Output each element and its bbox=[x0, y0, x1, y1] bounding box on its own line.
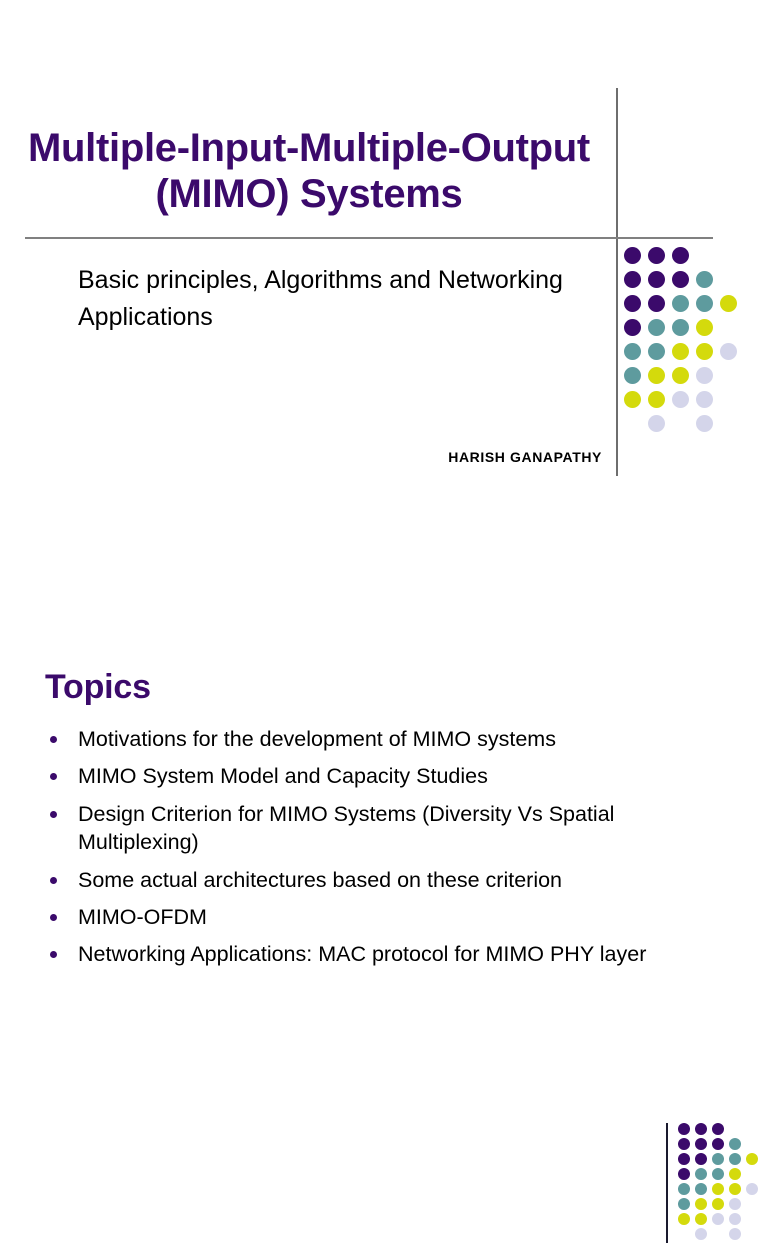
decorative-dot bbox=[672, 319, 689, 336]
decorative-dot bbox=[672, 271, 689, 288]
title-subtitle: Basic principles, Algorithms and Network… bbox=[78, 262, 598, 335]
decorative-dot bbox=[696, 295, 713, 312]
decorative-dot bbox=[624, 391, 641, 408]
decorative-dot bbox=[746, 1153, 758, 1165]
bullet-point-icon bbox=[50, 877, 57, 884]
bullet-point-icon bbox=[50, 811, 57, 818]
decorative-dot bbox=[729, 1138, 741, 1150]
dot-grid-accent-line bbox=[666, 1123, 668, 1243]
decorative-dot bbox=[695, 1168, 707, 1180]
list-item-label: Motivations for the development of MIMO … bbox=[78, 727, 556, 751]
decorative-dot bbox=[624, 247, 641, 264]
decorative-dot bbox=[746, 1183, 758, 1195]
topics-slide: Topics Motivations for the development o… bbox=[0, 540, 768, 1024]
decorative-dot bbox=[678, 1138, 690, 1150]
list-item: MIMO-OFDM bbox=[40, 903, 730, 931]
decorative-dot bbox=[624, 319, 641, 336]
decorative-dot bbox=[729, 1183, 741, 1195]
decorative-dot bbox=[648, 295, 665, 312]
decorative-dot bbox=[712, 1138, 724, 1150]
decorative-dot bbox=[695, 1138, 707, 1150]
list-item-label: MIMO-OFDM bbox=[78, 905, 207, 929]
list-item-label: Design Criterion for MIMO Systems (Diver… bbox=[78, 802, 614, 854]
decorative-dot bbox=[648, 415, 665, 432]
horizontal-divider-rule bbox=[25, 237, 713, 239]
decorative-dot bbox=[648, 271, 665, 288]
decorative-dot bbox=[678, 1168, 690, 1180]
decorative-dot-grid-topics bbox=[666, 1123, 766, 1245]
decorative-dot bbox=[648, 391, 665, 408]
decorative-dot bbox=[695, 1123, 707, 1135]
list-item-label: Networking Applications: MAC protocol fo… bbox=[78, 942, 646, 966]
decorative-dot bbox=[648, 247, 665, 264]
list-item-label: Some actual architectures based on these… bbox=[78, 868, 562, 892]
decorative-dot bbox=[712, 1153, 724, 1165]
decorative-dot bbox=[648, 367, 665, 384]
decorative-dot bbox=[624, 295, 641, 312]
decorative-dot bbox=[696, 343, 713, 360]
decorative-dot bbox=[695, 1213, 707, 1225]
decorative-dot bbox=[712, 1198, 724, 1210]
decorative-dot bbox=[696, 391, 713, 408]
decorative-dot bbox=[648, 319, 665, 336]
decorative-dot bbox=[672, 367, 689, 384]
topics-bullet-list: Motivations for the development of MIMO … bbox=[40, 725, 730, 978]
decorative-dot bbox=[678, 1213, 690, 1225]
decorative-dot bbox=[729, 1168, 741, 1180]
decorative-dot bbox=[729, 1228, 741, 1240]
decorative-dot bbox=[672, 247, 689, 264]
author-name: HARISH GANAPATHY bbox=[0, 449, 602, 465]
decorative-dot bbox=[696, 319, 713, 336]
decorative-dot bbox=[720, 295, 737, 312]
decorative-dot bbox=[712, 1183, 724, 1195]
list-item: Networking Applications: MAC protocol fo… bbox=[40, 940, 730, 968]
list-item: MIMO System Model and Capacity Studies bbox=[40, 762, 730, 790]
decorative-dot bbox=[648, 343, 665, 360]
decorative-dot-grid-title bbox=[624, 247, 744, 442]
decorative-dot bbox=[712, 1213, 724, 1225]
decorative-dot bbox=[672, 343, 689, 360]
list-item: Design Criterion for MIMO Systems (Diver… bbox=[40, 800, 730, 857]
decorative-dot bbox=[624, 367, 641, 384]
decorative-dot bbox=[729, 1213, 741, 1225]
decorative-dot bbox=[695, 1228, 707, 1240]
decorative-dot bbox=[678, 1153, 690, 1165]
list-item: Motivations for the development of MIMO … bbox=[40, 725, 730, 753]
decorative-dot bbox=[720, 343, 737, 360]
bullet-point-icon bbox=[50, 914, 57, 921]
decorative-dot bbox=[678, 1183, 690, 1195]
decorative-dot bbox=[695, 1153, 707, 1165]
list-item: Some actual architectures based on these… bbox=[40, 866, 730, 894]
bullet-point-icon bbox=[50, 951, 57, 958]
decorative-dot bbox=[712, 1168, 724, 1180]
decorative-dot bbox=[624, 271, 641, 288]
bullet-point-icon bbox=[50, 773, 57, 780]
decorative-dot bbox=[712, 1123, 724, 1135]
decorative-dot bbox=[696, 271, 713, 288]
decorative-dot bbox=[678, 1123, 690, 1135]
decorative-dot bbox=[678, 1198, 690, 1210]
decorative-dot bbox=[729, 1153, 741, 1165]
decorative-dot bbox=[695, 1198, 707, 1210]
decorative-dot bbox=[695, 1183, 707, 1195]
topics-heading: Topics bbox=[45, 668, 151, 707]
decorative-dot bbox=[624, 343, 641, 360]
decorative-dot bbox=[672, 295, 689, 312]
decorative-dot bbox=[672, 391, 689, 408]
vertical-divider-rule bbox=[616, 88, 618, 476]
bullet-point-icon bbox=[50, 736, 57, 743]
title-slide: Multiple-Input-Multiple-Output (MIMO) Sy… bbox=[0, 0, 768, 540]
list-item-label: MIMO System Model and Capacity Studies bbox=[78, 764, 488, 788]
decorative-dot bbox=[696, 415, 713, 432]
page-title: Multiple-Input-Multiple-Output (MIMO) Sy… bbox=[12, 125, 606, 217]
decorative-dot bbox=[729, 1198, 741, 1210]
decorative-dot bbox=[696, 367, 713, 384]
